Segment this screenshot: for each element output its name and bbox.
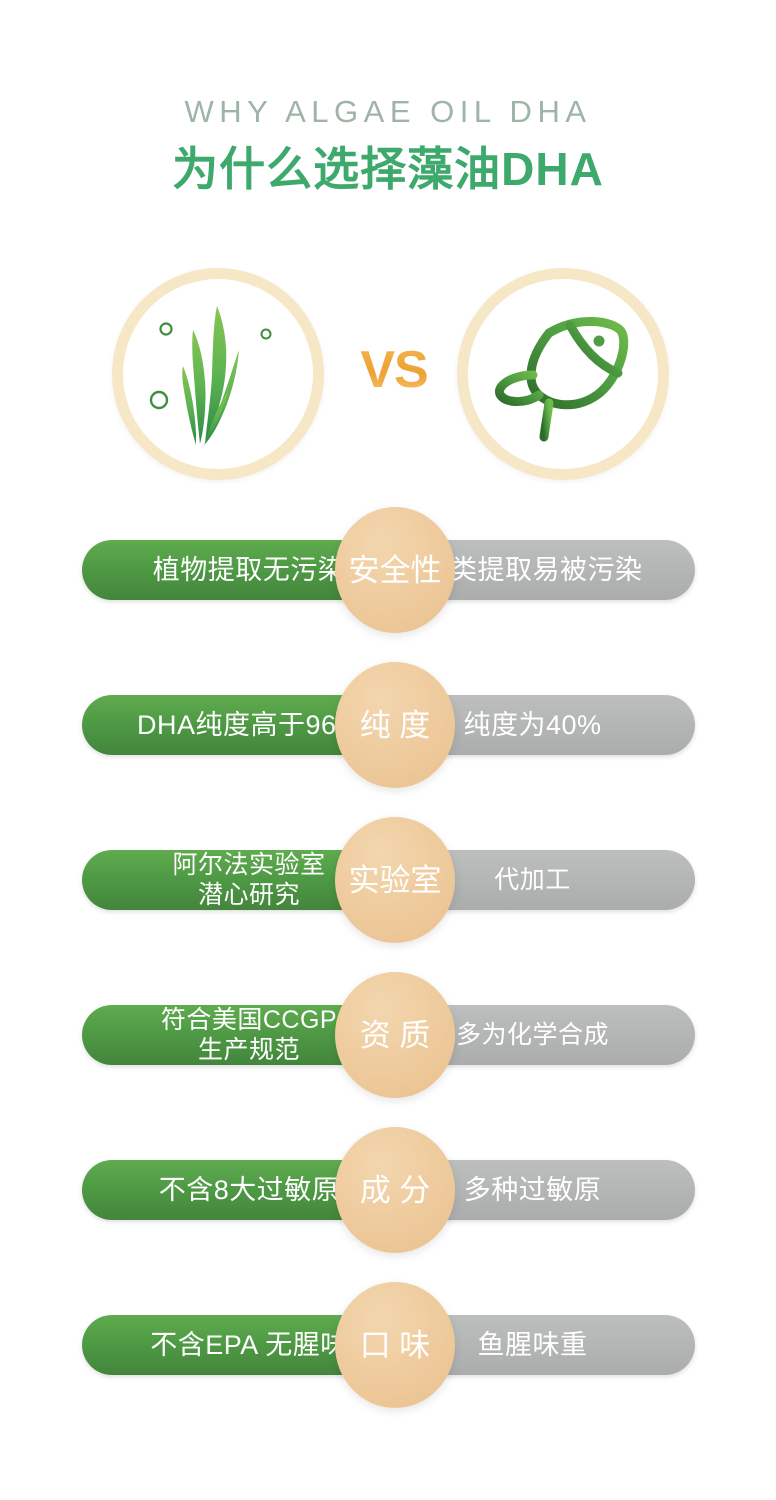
row-badge-label: 纯 度 xyxy=(360,710,431,741)
versus-visual: VS xyxy=(0,268,776,490)
row-badge: 纯 度 xyxy=(335,662,455,788)
row-badge: 成 分 xyxy=(335,1127,455,1253)
row-badge: 实验室 xyxy=(335,817,455,943)
row-badge-label: 安全性 xyxy=(349,555,442,586)
algae-circle xyxy=(112,268,324,480)
row-badge-label: 口 味 xyxy=(360,1330,431,1361)
table-row: DHA纯度高于96% 纯度为40% 纯 度 xyxy=(0,658,776,813)
seaweed-icon xyxy=(143,294,293,454)
table-row: 符合美国CCGP 生产规范 多为化学合成 资 质 xyxy=(0,968,776,1123)
row-badge-label: 实验室 xyxy=(349,865,442,896)
comparison-rows: 植物提取无污染 鱼类提取易被污染 安全性 DHA纯度高于96% 纯度为40% 纯… xyxy=(0,503,776,1433)
table-row: 不含EPA 无腥味 鱼腥味重 口 味 xyxy=(0,1278,776,1433)
header-subtitle-en: WHY ALGAE OIL DHA xyxy=(0,96,776,127)
page-header: WHY ALGAE OIL DHA 为什么选择藻油DHA xyxy=(0,96,776,196)
fish-icon xyxy=(487,303,639,445)
vs-label: VS xyxy=(338,344,450,396)
row-badge: 口 味 xyxy=(335,1282,455,1408)
row-badge: 安全性 xyxy=(335,507,455,633)
table-row: 植物提取无污染 鱼类提取易被污染 安全性 xyxy=(0,503,776,658)
table-row: 不含8大过敏原 多种过敏原 成 分 xyxy=(0,1123,776,1278)
fish-circle xyxy=(457,268,669,480)
table-row: 阿尔法实验室 潜心研究 代加工 实验室 xyxy=(0,813,776,968)
row-badge-label: 成 分 xyxy=(360,1175,431,1206)
page-title: 为什么选择藻油DHA xyxy=(0,142,776,196)
row-badge-label: 资 质 xyxy=(360,1020,431,1051)
row-badge: 资 质 xyxy=(335,972,455,1098)
